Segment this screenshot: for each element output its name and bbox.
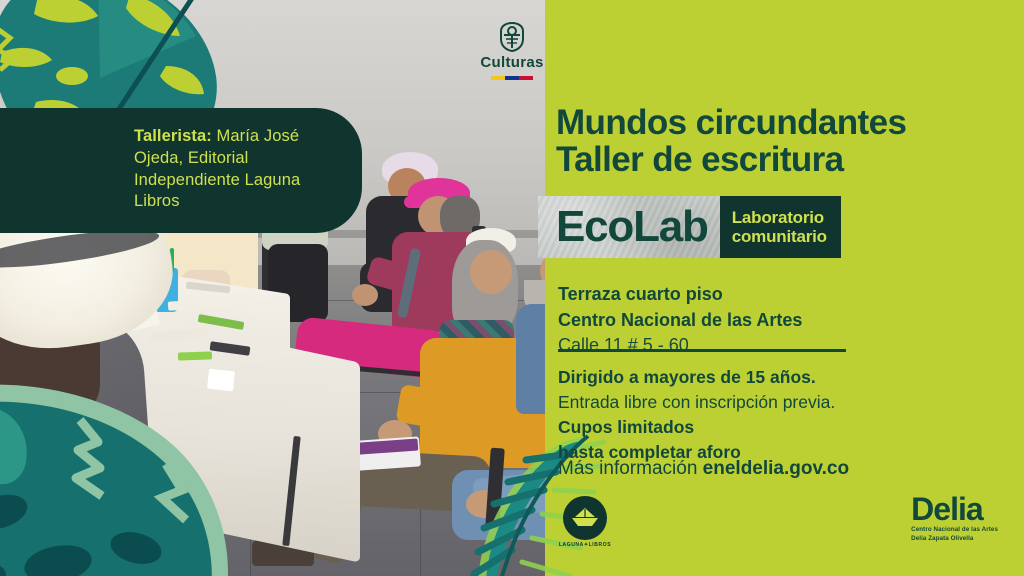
address-line-2: Centro Nacional de las Artes bbox=[558, 308, 958, 334]
laguna-libros-wordmark: LAGUNA✦LIBROS bbox=[559, 542, 611, 548]
address-line-1: Terraza cuarto piso bbox=[558, 282, 958, 308]
culturas-wordmark: Culturas bbox=[480, 54, 543, 71]
paper-boat-icon bbox=[563, 496, 607, 540]
page-title: Mundos circundantes Taller de escritura bbox=[556, 104, 976, 179]
info-line-3: Cupos limitados bbox=[558, 415, 978, 440]
divider bbox=[558, 349, 846, 352]
ecolab-subtitle-block: Laboratorio comunitario bbox=[720, 196, 841, 258]
venue-address: Terraza cuarto piso Centro Nacional de l… bbox=[558, 282, 958, 359]
more-info: Más información eneldelia.gov.co bbox=[558, 458, 849, 480]
leaf-sliver-left-edge bbox=[0, 404, 34, 484]
monstera-leaf-bottom-left bbox=[0, 360, 260, 576]
more-info-prefix: Más información bbox=[558, 458, 703, 479]
ecolab-subtitle-line-1: Laboratorio bbox=[732, 208, 827, 227]
address-line-3: Calle 11 # 5 - 60 bbox=[558, 333, 958, 359]
info-line-1: Dirigido a mayores de 15 años. bbox=[558, 365, 978, 390]
event-details: Dirigido a mayores de 15 años. Entrada l… bbox=[558, 365, 978, 464]
info-line-2: Entrada libre con inscripción previa. bbox=[558, 390, 978, 415]
content-column: Mundos circundantes Taller de escritura … bbox=[556, 0, 1016, 576]
website-link[interactable]: eneldelia.gov.co bbox=[703, 458, 849, 479]
headline-line-1: Mundos circundantes bbox=[556, 104, 976, 141]
ecolab-badge: EcoLab Laboratorio comunitario bbox=[538, 196, 841, 258]
delia-subtitle-line-2: Delia Zapata Olivella bbox=[911, 535, 998, 543]
delia-subtitle: Centro Nacional de las Artes Delia Zapat… bbox=[911, 526, 998, 542]
headline-line-2: Taller de escritura bbox=[556, 141, 976, 178]
delia-subtitle-line-1: Centro Nacional de las Artes bbox=[911, 526, 998, 534]
colombia-flag-icon bbox=[491, 76, 533, 80]
laguna-libros-logo: LAGUNA✦LIBROS bbox=[552, 496, 618, 548]
ecolab-wordmark: EcoLab bbox=[556, 205, 708, 249]
poster-canvas: Culturas Tallerista: María José Ojeda, E… bbox=[0, 0, 1024, 576]
delia-logo: Delia Centro Nacional de las Artes Delia… bbox=[911, 494, 998, 543]
ecolab-brand-block: EcoLab bbox=[538, 196, 720, 258]
ecolab-subtitle-line-2: comunitario bbox=[732, 227, 827, 246]
tallerista-callout: Tallerista: María José Ojeda, Editorial … bbox=[0, 108, 362, 233]
tallerista-label: Tallerista: bbox=[134, 127, 212, 145]
delia-wordmark: Delia bbox=[911, 494, 998, 524]
colombia-shield-icon bbox=[498, 22, 526, 52]
